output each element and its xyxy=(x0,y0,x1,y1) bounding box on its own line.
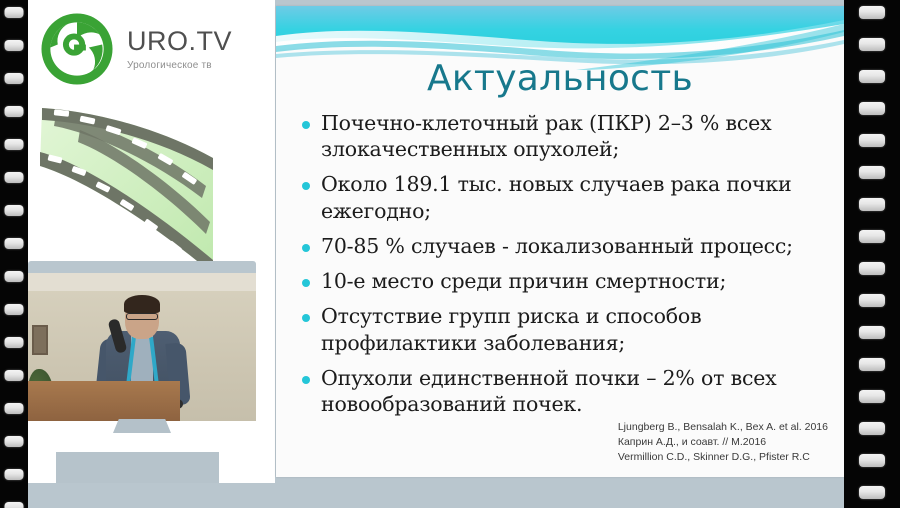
bullet-dot-icon xyxy=(302,279,310,287)
film-perforation xyxy=(5,73,24,84)
film-perforation xyxy=(859,422,885,435)
film-perforation xyxy=(5,370,24,381)
presentation-slide: Актуальность Почечно-клеточный рак (ПКР)… xyxy=(276,6,844,477)
film-strip-border-right xyxy=(844,0,900,508)
citation-line: Ljungberg B., Bensalah K., Bex A. et al.… xyxy=(618,420,828,435)
bullet-dot-icon xyxy=(302,244,310,252)
bullet-text: 70-85 % случаев - локализованный процесс… xyxy=(321,233,793,259)
speaker-hair xyxy=(124,295,160,313)
film-perforation xyxy=(859,6,885,19)
film-perforation xyxy=(5,40,24,51)
film-strip-border-left xyxy=(0,0,28,508)
film-perforation xyxy=(5,271,24,282)
film-perforation xyxy=(5,139,24,150)
bullet-text: Около 189.1 тыс. новых случаев рака почк… xyxy=(321,171,826,223)
film-perforation xyxy=(5,205,24,216)
bullet-item: Отсутствие групп риска и способов профил… xyxy=(302,303,826,355)
bullet-dot-icon xyxy=(302,182,310,190)
film-perforation xyxy=(5,106,24,117)
bullet-text: Отсутствие групп риска и способов профил… xyxy=(321,303,826,355)
film-perforation xyxy=(859,390,885,403)
film-perforation xyxy=(859,38,885,51)
film-perforation xyxy=(859,70,885,83)
bullet-dot-icon xyxy=(302,314,310,322)
speaker-video-thumbnail[interactable] xyxy=(28,261,256,426)
bullet-text: 10-е место среди причин смертности; xyxy=(321,268,726,294)
bullet-text: Почечно-клеточный рак (ПКР) 2–3 % всех з… xyxy=(321,110,826,162)
film-perforation xyxy=(859,326,885,339)
film-perforation xyxy=(859,294,885,307)
slide-citations: Ljungberg B., Bensalah K., Bex A. et al.… xyxy=(618,420,828,465)
film-perforation xyxy=(5,238,24,249)
bullet-item: 70-85 % случаев - локализованный процесс… xyxy=(302,233,826,259)
film-perforation xyxy=(5,7,24,18)
brand-logo-group[interactable]: URO.TV Урологическое тв xyxy=(40,12,232,86)
green-film-strip-graphic-icon xyxy=(38,106,238,271)
film-perforation xyxy=(5,502,24,508)
brand-name: URO.TV xyxy=(127,27,232,55)
film-perforation xyxy=(859,198,885,211)
film-perforation xyxy=(5,436,24,447)
bullet-item: Почечно-клеточный рак (ПКР) 2–3 % всех з… xyxy=(302,110,826,162)
bullet-text: Опухоли единственной почки – 2% от всех … xyxy=(321,365,826,417)
film-perforation xyxy=(859,166,885,179)
bullet-dot-icon xyxy=(302,121,310,129)
film-perforation xyxy=(859,358,885,371)
film-perforation xyxy=(5,304,24,315)
monitor-stand xyxy=(113,419,171,433)
film-perforation xyxy=(859,134,885,147)
film-perforation xyxy=(5,403,24,414)
bullet-dot-icon xyxy=(302,376,310,384)
video-frame[interactable] xyxy=(28,261,256,421)
brand-text-block: URO.TV Урологическое тв xyxy=(127,27,232,70)
wall-picture xyxy=(32,325,48,355)
podium xyxy=(28,381,180,421)
bullet-item: 10-е место среди причин смертности; xyxy=(302,268,826,294)
film-perforation xyxy=(859,262,885,275)
video-picture xyxy=(28,273,256,421)
slide-bullet-list: Почечно-клеточный рак (ПКР) 2–3 % всех з… xyxy=(302,110,826,426)
video-player-stage: URO.TV Урологическое тв xyxy=(0,0,900,508)
uro-tv-circular-logo-icon xyxy=(40,12,114,86)
brand-tagline: Урологическое тв xyxy=(127,60,232,71)
bullet-item: Опухоли единственной почки – 2% от всех … xyxy=(302,365,826,417)
bullet-item: Около 189.1 тыс. новых случаев рака почк… xyxy=(302,171,826,223)
citation-line: Vermillion C.D., Skinner D.G., Pfister R… xyxy=(618,450,828,465)
film-perforation xyxy=(5,469,24,480)
film-perforation xyxy=(859,454,885,467)
wall-upper-band xyxy=(28,273,256,291)
player-bottom-bar[interactable] xyxy=(56,452,219,483)
slide-title: Актуальность xyxy=(276,58,844,99)
film-perforation xyxy=(5,337,24,348)
film-perforation xyxy=(859,102,885,115)
film-perforation xyxy=(859,486,885,499)
film-perforation xyxy=(5,172,24,183)
film-perforation xyxy=(859,230,885,243)
citation-line: Каприн А.Д., и соавт. // М.2016 xyxy=(618,435,828,450)
glasses-icon xyxy=(126,313,158,320)
